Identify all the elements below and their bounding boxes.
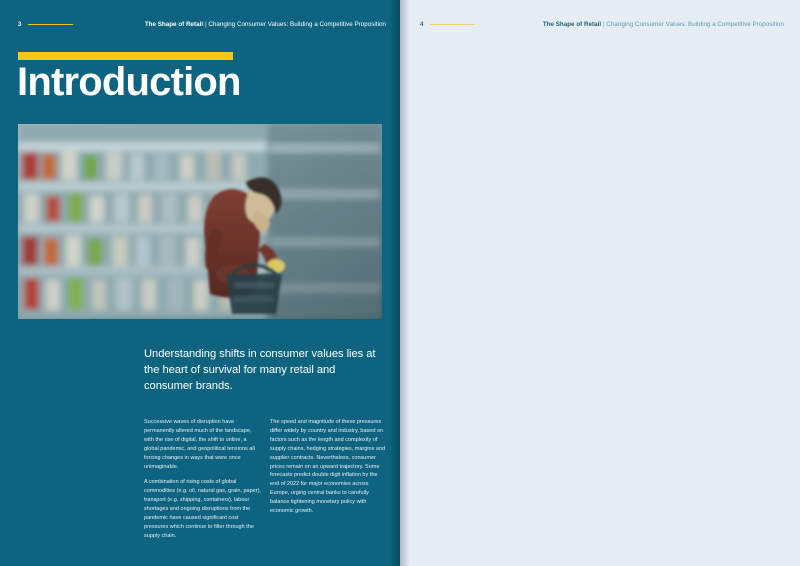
document-spread: 3 The Shape of Retail | Changing Consume… xyxy=(0,0,800,566)
folio-number-right: 4 xyxy=(420,21,424,28)
left-column-2: The speed and magnitude of these pressur… xyxy=(270,418,387,541)
running-header-bold-right: The Shape of Retail xyxy=(543,21,601,28)
running-header-bold-left: The Shape of Retail xyxy=(145,21,203,28)
hero-photo xyxy=(18,124,382,319)
paragraph: Successive waves of disruption have perm… xyxy=(144,418,261,471)
left-body-columns: Successive waves of disruption have perm… xyxy=(144,418,387,541)
running-header-rest-right: Changing Consumer Values: Building a Com… xyxy=(606,21,784,28)
paragraph: The speed and magnitude of these pressur… xyxy=(270,418,387,516)
folio-number-left: 3 xyxy=(18,21,22,28)
running-header-right: 4 The Shape of Retail | Changing Consume… xyxy=(400,21,800,28)
running-header-title-left: The Shape of Retail | Changing Consumer … xyxy=(145,21,386,28)
folio-rule-right xyxy=(430,24,475,26)
title-accent-rule xyxy=(18,52,233,60)
folio-rule-left xyxy=(28,24,73,26)
running-header-left: 3 The Shape of Retail | Changing Consume… xyxy=(0,21,400,28)
left-column-1: Successive waves of disruption have perm… xyxy=(144,418,261,541)
page-right: 4 The Shape of Retail | Changing Consume… xyxy=(400,0,800,566)
page-left: 3 The Shape of Retail | Changing Consume… xyxy=(0,0,400,566)
deck-standfirst: Understanding shifts in consumer values … xyxy=(144,347,384,395)
running-header-rest-left: Changing Consumer Values: Building a Com… xyxy=(208,21,386,28)
page-title: Introduction xyxy=(17,62,241,102)
running-header-title-right: The Shape of Retail | Changing Consumer … xyxy=(543,21,784,28)
grocery-aisle-illustration xyxy=(18,124,382,319)
paragraph: A combination of rising costs of global … xyxy=(144,478,261,540)
